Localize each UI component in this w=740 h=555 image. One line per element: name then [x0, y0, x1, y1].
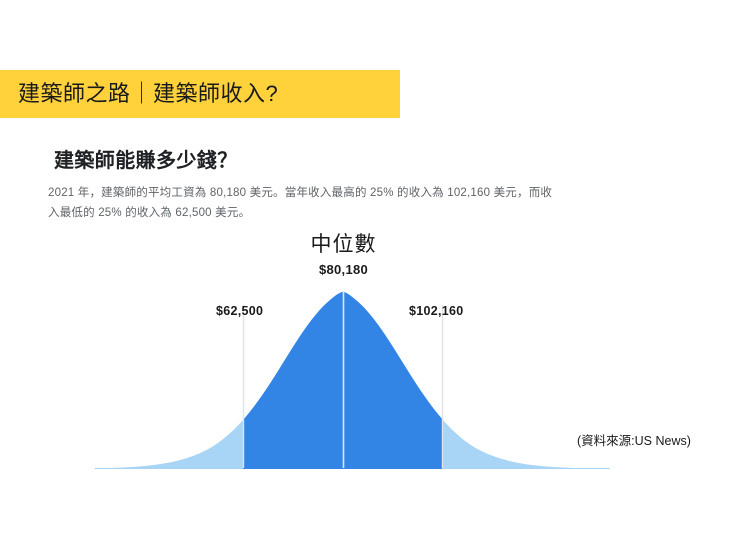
lower-quartile-value-label: $62,500	[216, 304, 263, 318]
banner-title-text: 建築師之路｜建築師收入?	[18, 83, 278, 105]
body-paragraph-line-1: 2021 年，建築師的平均工資為 80,180 美元。當年收入最高的 25% 的…	[48, 183, 628, 203]
title-banner: 建築師之路｜建築師收入?	[0, 70, 400, 118]
upper-quartile-value-label: $102,160	[409, 304, 464, 318]
slide-canvas: 建築師之路｜建築師收入? 建築師能賺多少錢？ 2021 年，建築師的平均工資為 …	[0, 0, 740, 555]
median-label: 中位數	[291, 228, 396, 258]
section-heading: 建築師能賺多少錢？	[54, 144, 238, 173]
body-paragraph: 2021 年，建築師的平均工資為 80,180 美元。當年收入最高的 25% 的…	[48, 183, 628, 223]
body-paragraph-line-2: 入最低的 25% 的收入為 62,500 美元。	[48, 203, 628, 223]
median-value-label: $80,180	[291, 262, 396, 277]
source-note: (資料來源:US News)	[577, 430, 691, 449]
